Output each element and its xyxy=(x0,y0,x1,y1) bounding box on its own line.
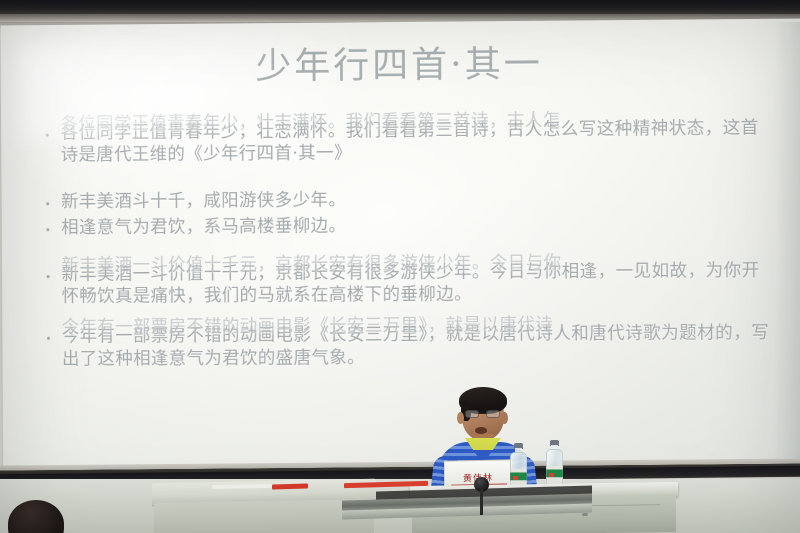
slide-bullet-translation-text: 新丰美酒一斗价值十千元，京都长安有很多游侠少年。今日与你相逢，一见如故，为你开怀… xyxy=(61,260,759,306)
bottle-label xyxy=(546,466,563,484)
projection-screen: 少年行四首·其一 各位同学正值青春年少，壮志满怀。我们看看第三首诗，古人怎 各位… xyxy=(0,19,800,472)
glasses-lens-left xyxy=(465,410,479,418)
presenter-ear-left xyxy=(457,412,464,424)
desk-knob xyxy=(582,513,588,516)
glasses-bridge xyxy=(479,413,486,414)
lectern-red-strip xyxy=(344,481,428,488)
slide-title: 少年行四首·其一 xyxy=(1,33,800,92)
slide-bullet-list: 各位同学正值青春年少，壮志满怀。我们看看第三首诗，古人怎 各位同学正值青春年少，… xyxy=(43,117,777,375)
lectern-red-marker xyxy=(272,484,308,490)
slide-bullet-translation: 新丰美酒一斗价值十千元，京都长安有很多游侠少年。今日与你 新丰美酒一斗价值十千元… xyxy=(44,259,776,308)
slide-bullet-poem-line-1: 新丰美酒斗十千，咸阳游侠多少年。 xyxy=(43,186,775,213)
glasses-icon xyxy=(465,410,501,418)
slide-bullet-poem-line-2-text: 相逢意气为君饮，系马高楼垂柳边。 xyxy=(61,217,346,239)
slide-bullet-film-reference-text: 今年有一部票房不错的动画电影《长安三万里》，就是以唐代诗人和唐代诗歌为题材的，写… xyxy=(62,323,770,369)
slide-bullet-intro-text: 各位同学正值青春年少，壮志满怀。我们看看第三首诗，古人怎么写这种精神状态，这首诗… xyxy=(61,118,759,165)
microphone-stem xyxy=(480,489,483,515)
slide-bullet-intro: 各位同学正值青春年少，壮志满怀。我们看看第三首诗，古人怎 各位同学正值青春年少，… xyxy=(43,117,775,167)
lecture-hall-photo: 少年行四首·其一 各位同学正值青春年少，壮志满怀。我们看看第三首诗，古人怎 各位… xyxy=(0,0,800,533)
lectern-body xyxy=(154,499,374,533)
microphone-icon xyxy=(478,477,485,499)
lectern xyxy=(152,481,434,533)
glasses-lens-right xyxy=(486,410,500,418)
slide-bullet-poem-line-2: 相逢意气为君饮，系马高楼垂柳边。 xyxy=(43,213,775,240)
presenter-ear-right xyxy=(501,412,508,424)
slide-content: 少年行四首·其一 各位同学正值青春年少，壮志满怀。我们看看第三首诗，古人怎 各位… xyxy=(0,19,800,472)
presenter-mouth xyxy=(475,427,487,434)
slide-bullet-poem-line-1-text: 新丰美酒斗十千，咸阳游侠多少年。 xyxy=(61,190,346,212)
ceiling-band xyxy=(0,0,800,14)
slide-bullet-film-reference: 今年有一部票房不错的动画电影《长安三万里》，就是以唐代诗 今年有一部票房不错的动… xyxy=(44,322,776,370)
